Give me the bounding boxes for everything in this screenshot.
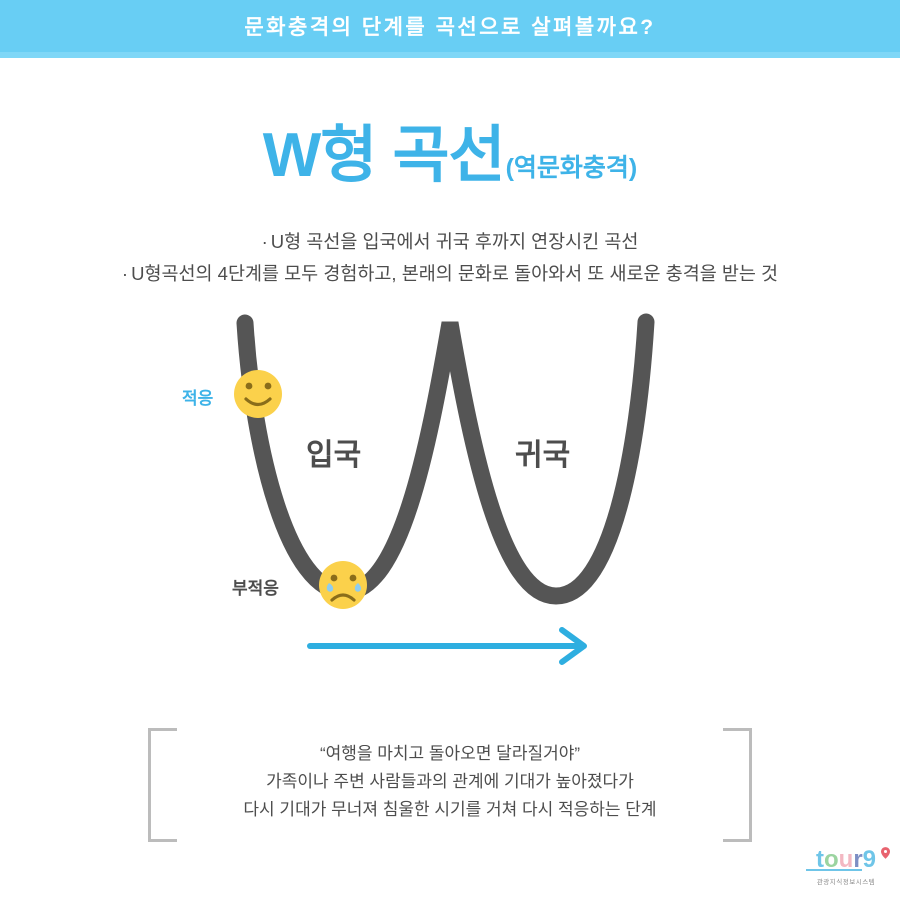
right-arrow-icon: [310, 630, 584, 662]
map-pin-icon: [881, 847, 890, 859]
page-title-sub: (역문화충격): [506, 154, 638, 182]
logo-letter: 9: [863, 846, 876, 873]
curve-label-entry: 입국: [306, 430, 361, 474]
quote-box: “여행을 마치고 돌아오면 달라질거야” 가족이나 주변 사람들과의 관계에 기…: [148, 728, 752, 838]
logo-subtitle: 관광지식정보시스템: [800, 876, 892, 886]
bullet-item: ·U형곡선의 4단계를 모두 경험하고, 본래의 문화로 돌아와서 또 새로운 …: [0, 258, 900, 290]
bullet-text: U형곡선의 4단계를 모두 경험하고, 본래의 문화로 돌아와서 또 새로운 충…: [131, 263, 778, 284]
w-curve-diagram: [0, 300, 900, 700]
bullet-marker: ·: [262, 231, 268, 252]
quote-line: 가족이나 주변 사람들과의 관계에 기대가 높아졌다가: [148, 768, 752, 796]
bullet-marker: ·: [122, 263, 128, 284]
curve-label-maladapt: 부적응: [232, 574, 279, 599]
description-bullets: ·U형 곡선을 입국에서 귀국 후까지 연장시킨 곡선 ·U형곡선의 4단계를 …: [0, 226, 900, 290]
bullet-item: ·U형 곡선을 입국에서 귀국 후까지 연장시킨 곡선: [0, 226, 900, 258]
tour9-logo[interactable]: tour9 관광지식정보시스템: [800, 846, 892, 892]
bullet-text: U형 곡선을 입국에서 귀국 후까지 연장시킨 곡선: [271, 231, 639, 252]
smiley-crying-face-icon: [319, 561, 367, 609]
quote-line: 다시 기대가 무너져 침울한 시기를 거쳐 다시 적응하는 단계: [148, 796, 752, 824]
header-bar: 문화충격의 단계를 곡선으로 살펴볼까요?: [0, 0, 900, 52]
quote-line: “여행을 마치고 돌아오면 달라질거야”: [148, 740, 752, 768]
page-title-main: W형 곡선: [263, 121, 505, 190]
logo-underline: [806, 869, 862, 871]
curve-label-adapt: 적응: [182, 384, 213, 409]
smiley-happy-face-icon: [234, 370, 282, 418]
header-bar-underline: [0, 52, 900, 58]
header-title: 문화충격의 단계를 곡선으로 살펴볼까요?: [244, 11, 655, 41]
curve-label-return: 귀국: [515, 430, 570, 474]
w-curve-svg: [0, 300, 900, 700]
logo-wordmark: tour9: [800, 846, 892, 874]
quote-text: “여행을 마치고 돌아오면 달라질거야” 가족이나 주변 사람들과의 관계에 기…: [148, 740, 752, 824]
page-title: W형 곡선(역문화충격): [0, 104, 900, 194]
